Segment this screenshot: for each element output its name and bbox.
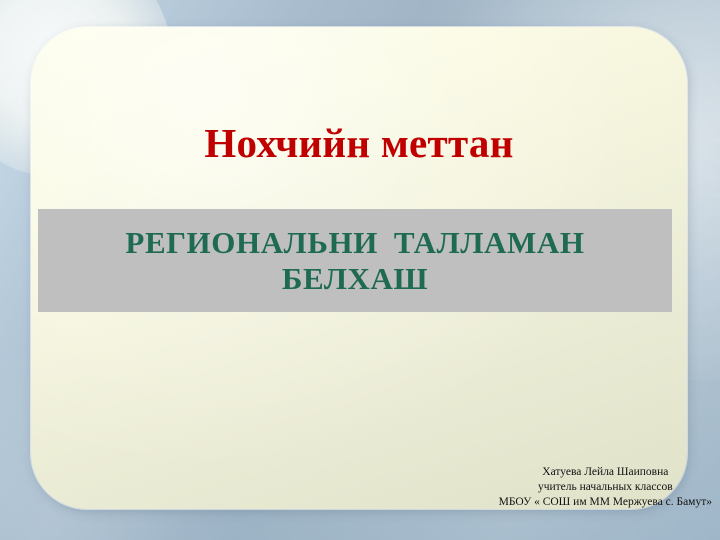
author-name: Хатуева Лейла Шаиповна: [499, 465, 712, 480]
subtitle-word-belkhash: БЕЛХАШ: [282, 261, 428, 296]
author-block: Хатуева Лейла Шаиповна учитель начальных…: [499, 465, 712, 510]
author-role: учитель начальных классов: [499, 480, 712, 495]
subtitle-banner: РЕГИОНАЛЬНИТАЛЛАМАН БЕЛХАШ: [38, 209, 672, 312]
presentation-slide: Нохчийн меттан РЕГИОНАЛЬНИТАЛЛАМАН БЕЛХА…: [0, 0, 720, 540]
subtitle-word-regionalni: РЕГИОНАЛЬНИ: [125, 225, 377, 260]
slide-title: Нохчийн меттан: [31, 119, 687, 167]
author-school: МБОУ « СОШ им ММ Мержуева с. Бамут»: [499, 495, 712, 510]
subtitle-word-tallaman: ТАЛЛАМАН: [394, 225, 585, 260]
subtitle-text: РЕГИОНАЛЬНИТАЛЛАМАН БЕЛХАШ: [38, 225, 672, 297]
